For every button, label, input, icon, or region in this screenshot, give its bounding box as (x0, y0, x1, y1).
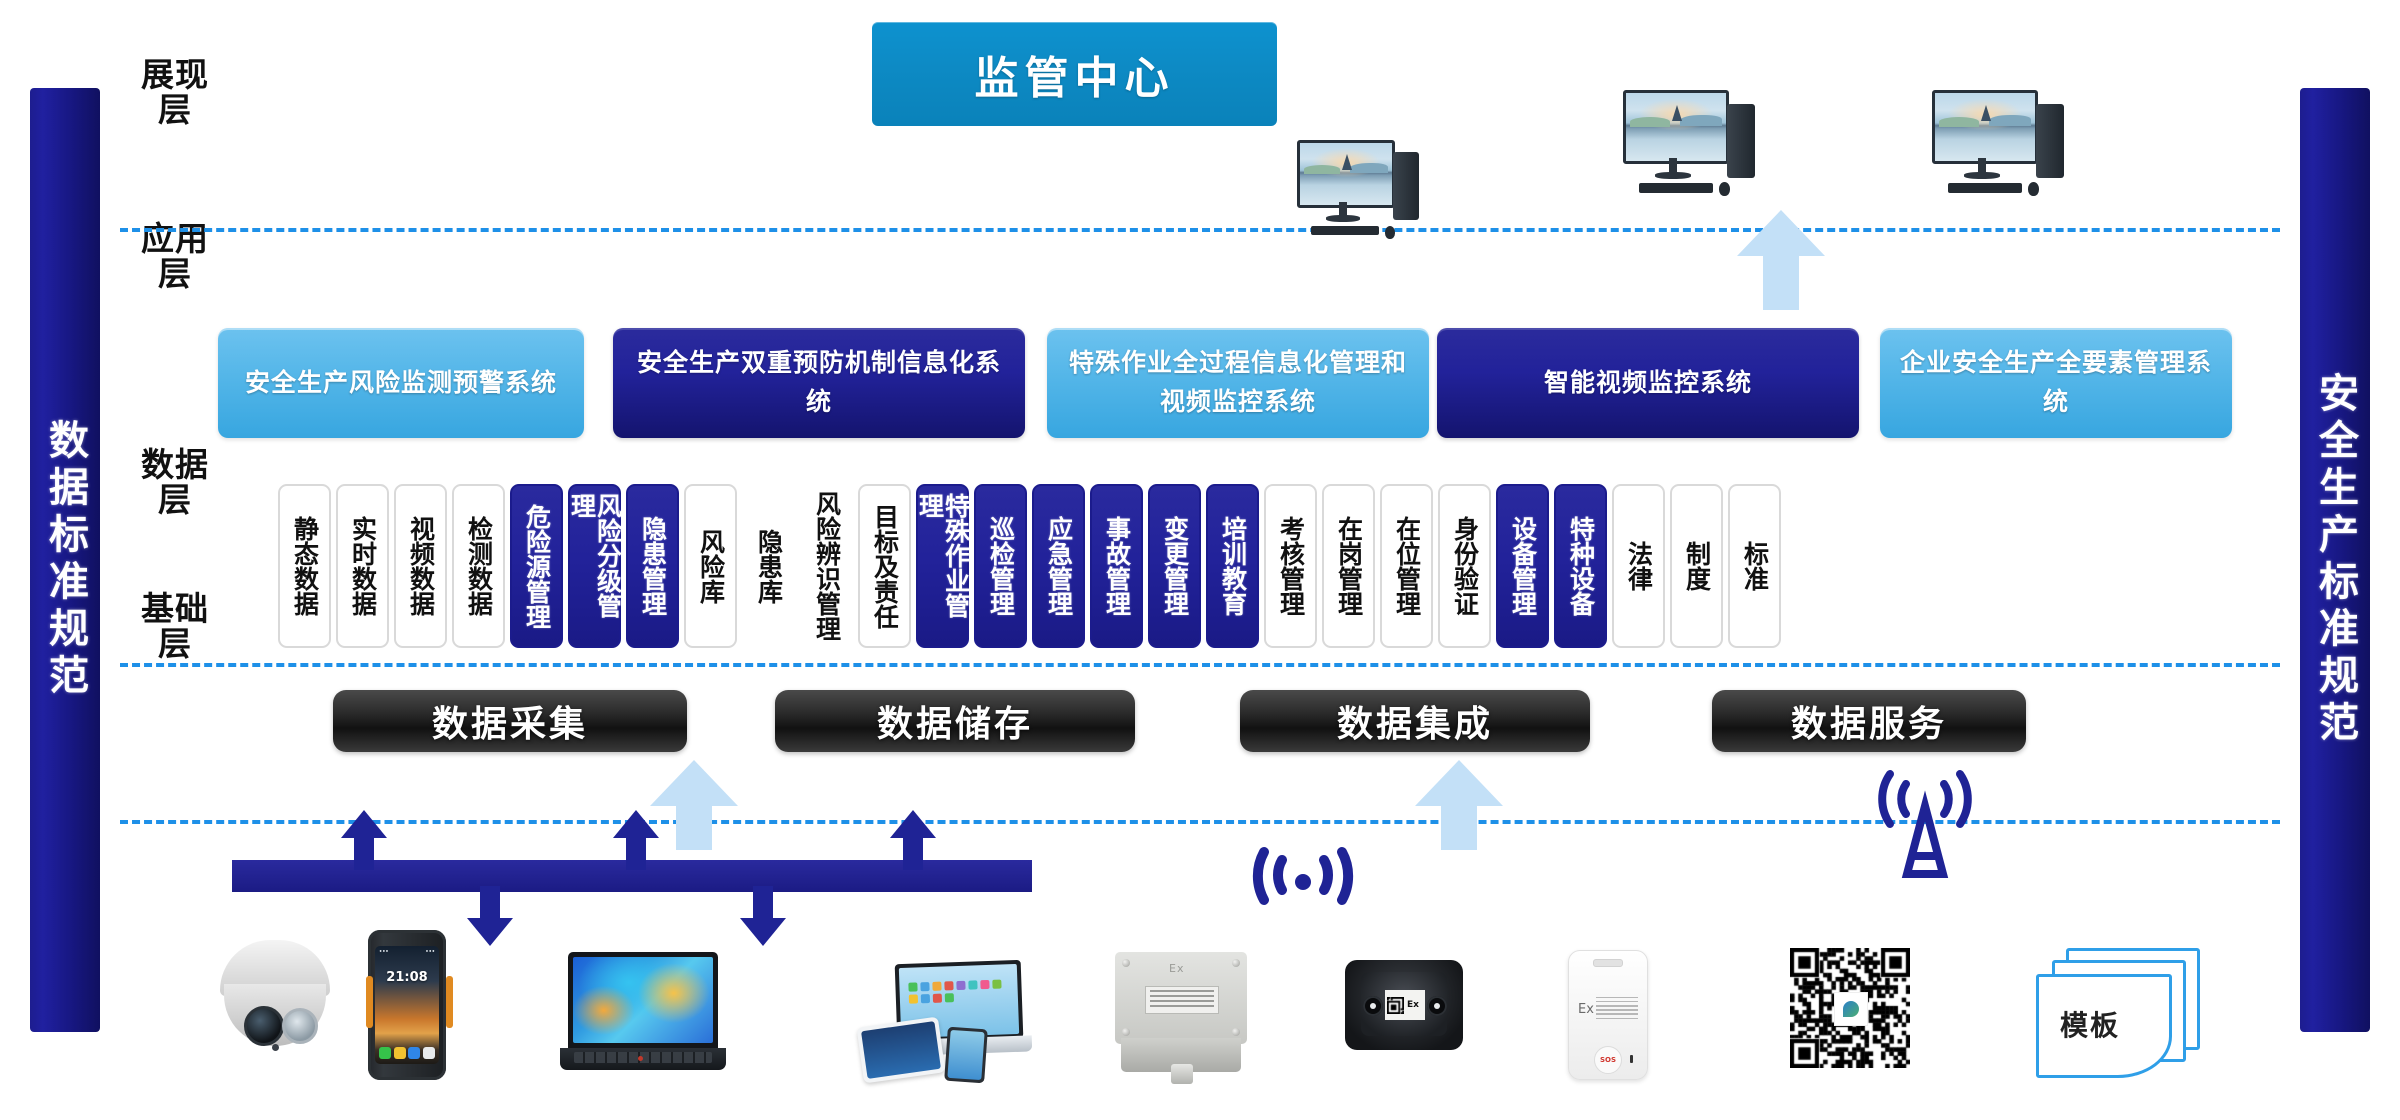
cluster-tablet (857, 1017, 946, 1084)
module-chip-11[interactable]: 目标及责任 (858, 484, 911, 648)
arrow-body (1763, 256, 1799, 310)
module-chip-20-label: 在位管理 (1394, 516, 1420, 616)
sos-button-label: SOS (1600, 1056, 1616, 1064)
module-chip-23-label: 特种设备 (1568, 516, 1594, 616)
left-rail-label: 数据标准规范 (45, 419, 85, 701)
arrow-head (1415, 760, 1503, 806)
module-chip-21[interactable]: 身份验证 (1438, 484, 1491, 648)
app-card-4[interactable]: 智能视频监控系统 (1437, 328, 1859, 438)
divider-presentation-application (120, 228, 2280, 232)
mouse-icon (1719, 182, 1730, 196)
supervision-center-label: 监管中心 (975, 42, 1175, 106)
laptop-keyboard-icon (574, 1052, 712, 1063)
phone-clock: 21:08 (375, 970, 439, 985)
sos-tag-led (1630, 1055, 1633, 1063)
monitor-icon (1932, 90, 2038, 164)
arrow-body (676, 806, 712, 850)
layer-label-application: 应用层 (135, 222, 215, 292)
sos-tag-lanyard-slot (1593, 959, 1623, 967)
junction-box-screw-tl (1122, 959, 1130, 967)
mouse-icon (2028, 182, 2039, 196)
right-rail-safety-standards: 安全生产标准规范 (2300, 88, 2370, 1032)
module-chip-17[interactable]: 培训教育 (1206, 484, 1259, 648)
data-pill-4[interactable]: 数据服务 (1712, 690, 2026, 752)
laptop-trackpoint-icon (638, 1056, 643, 1061)
wallpaper-peak (1981, 105, 1991, 121)
module-chip-7[interactable]: 隐患管理 (626, 484, 679, 648)
module-chip-1-label: 静态数据 (292, 516, 318, 616)
module-chip-10-label: 风险辨识管理 (814, 491, 840, 641)
layer-label-presentation-c1: 展现层 (135, 58, 215, 128)
laptop-lid (568, 952, 718, 1048)
layer-label-infrastructure-c1: 基础层 (135, 592, 215, 662)
app-card-1[interactable]: 安全生产风险监测预警系统 (218, 328, 584, 438)
module-chip-9-label: 隐患库 (756, 529, 782, 604)
module-chip-5[interactable]: 危险源管理 (510, 484, 563, 648)
wallpaper-hill-right (1350, 163, 1389, 173)
arrow-head (890, 810, 936, 838)
qr-code-device (1790, 948, 1912, 1070)
module-chip-26[interactable]: 标准 (1728, 484, 1781, 648)
module-chip-16[interactable]: 变更管理 (1148, 484, 1201, 648)
module-chip-row: 静态数据实时数据视频数据检测数据危险源管理风险分级管理隐患管理风险库隐患库风险辨… (278, 484, 2178, 648)
arrow-up-infra-to-data-2 (1415, 760, 1503, 850)
phone-app-phone-icon (379, 1047, 391, 1059)
app-card-1-label: 安全生产风险监测预警系统 (245, 364, 557, 403)
module-chip-22[interactable]: 设备管理 (1496, 484, 1549, 648)
beacon-sensor-right-icon (1427, 996, 1447, 1016)
junction-box-ex-mark: Ex (1169, 962, 1184, 975)
module-chip-12-label: 特殊作业管理 (917, 493, 969, 639)
right-rail-label: 安全生产标准规范 (2315, 372, 2355, 748)
app-card-2-label: 安全生产双重预防机制信息化系统 (627, 344, 1011, 422)
arrow-up-bus-2 (613, 810, 659, 866)
monitor-foot (1964, 172, 2000, 179)
data-pill-3-label: 数据集成 (1337, 695, 1493, 747)
data-pill-3[interactable]: 数据集成 (1240, 690, 1590, 752)
arrow-body (1441, 806, 1477, 850)
module-chip-15-label: 事故管理 (1104, 516, 1130, 616)
layer-label-data: 数据层 (135, 448, 215, 518)
template-documents: 模板 (2030, 948, 2206, 1078)
workstation-3 (1932, 90, 2092, 202)
module-chip-12[interactable]: 特殊作业管理 (916, 484, 969, 648)
cluster-phone (944, 1027, 988, 1084)
qr-code-center-logo (1834, 992, 1868, 1026)
wallpaper-hill-left (1630, 117, 1670, 127)
module-chip-20[interactable]: 在位管理 (1380, 484, 1433, 648)
cluster-app-grid (909, 980, 1009, 1004)
module-chip-24-label: 法律 (1626, 541, 1652, 591)
arrow-head (613, 810, 659, 838)
app-card-2[interactable]: 安全生产双重预防机制信息化系统 (613, 328, 1025, 438)
wallpaper-hill-right (1680, 115, 1722, 126)
monitor-foot (1326, 215, 1360, 222)
module-chip-4-label: 检测数据 (466, 516, 492, 616)
rugged-phone-device: •••••• 21:08 (368, 930, 452, 1086)
module-chip-4[interactable]: 检测数据 (452, 484, 505, 648)
arrow-head (650, 760, 738, 806)
junction-box-nameplate (1145, 986, 1219, 1014)
camera-indicator-dot (272, 1044, 279, 1051)
module-chip-9[interactable]: 隐患库 (742, 484, 795, 648)
keyboard-icon (1948, 183, 2022, 193)
arrow-up-bus-1 (341, 810, 387, 866)
phone-status-bar: •••••• (379, 949, 435, 955)
module-chip-18[interactable]: 考核管理 (1264, 484, 1317, 648)
wallpaper-hill-left (1304, 165, 1341, 174)
sos-button[interactable]: SOS (1594, 1046, 1622, 1074)
module-chip-8[interactable]: 风险库 (684, 484, 737, 648)
layer-label-data-c1: 数据层 (135, 448, 215, 518)
cluster-tablet-screen (861, 1021, 941, 1079)
module-chip-13-label: 巡检管理 (988, 516, 1014, 616)
module-chip-18-label: 考核管理 (1278, 516, 1304, 616)
keyboard-icon (1639, 183, 1713, 193)
pc-tower-icon (2036, 104, 2064, 178)
pc-tower-icon (1727, 104, 1755, 178)
supervision-center-box[interactable]: 监管中心 (872, 22, 1277, 126)
module-chip-26-label: 标准 (1742, 541, 1768, 591)
module-chip-19-label: 在岗管理 (1336, 516, 1362, 616)
phone-screen: •••••• 21:08 (375, 946, 439, 1064)
app-card-3-label: 特殊作业全过程信息化管理和视频监控系统 (1061, 344, 1415, 422)
arrow-down-bus-2 (740, 890, 786, 946)
module-chip-13[interactable]: 巡检管理 (974, 484, 1027, 648)
sos-tag-ex-mark: Ex (1578, 1002, 1594, 1017)
arrow-up-application-to-presentation (1737, 210, 1825, 310)
junction-box-screw-bl (1122, 1028, 1130, 1036)
beacon-qr-label: Ex (1385, 990, 1425, 1020)
module-chip-22-label: 设备管理 (1510, 516, 1536, 616)
junction-box-screw-tr (1232, 959, 1240, 967)
monitor-icon (1623, 90, 1729, 164)
module-chip-5-label: 危险源管理 (524, 504, 550, 629)
wallpaper-hill-right (1989, 115, 2031, 126)
beacon-ex-mark: Ex (1407, 1000, 1419, 1010)
arrow-body (354, 836, 374, 870)
monitor-screen (1935, 93, 2035, 161)
arrow-head (467, 918, 513, 946)
module-chip-23[interactable]: 特种设备 (1554, 484, 1607, 648)
monitor-neck (1669, 158, 1677, 173)
white-ex-sos-tag-device: Ex SOS (1568, 950, 1650, 1082)
explosion-proof-junction-box-device: Ex (1115, 952, 1255, 1092)
keyboard-icon (1311, 226, 1379, 235)
monitor-neck (1978, 158, 1986, 173)
mouse-icon (1385, 226, 1395, 239)
app-card-4-label: 智能视频监控系统 (1544, 364, 1752, 403)
module-chip-10[interactable]: 风险辨识管理 (800, 484, 853, 648)
camera-lens-icon (244, 1006, 284, 1046)
module-chip-2[interactable]: 实时数据 (336, 484, 389, 648)
module-chip-25-label: 制度 (1684, 541, 1710, 591)
module-chip-14[interactable]: 应急管理 (1032, 484, 1085, 648)
module-chip-16-label: 变更管理 (1162, 516, 1188, 616)
phone-app-camera-icon (423, 1047, 435, 1059)
beacon-sensor-left-icon (1363, 996, 1383, 1016)
module-chip-8-label: 风险库 (698, 529, 724, 604)
arrow-body (626, 836, 646, 870)
module-chip-6-label: 风险分级管理 (569, 493, 621, 639)
phone-edge-right (446, 976, 453, 1028)
module-chip-2-label: 实时数据 (350, 516, 376, 616)
left-rail-data-standards: 数据标准规范 (30, 88, 100, 1032)
module-chip-3[interactable]: 视频数据 (394, 484, 447, 648)
black-beacon-reader-device: Ex (1345, 960, 1465, 1056)
phone-dock (379, 1047, 435, 1059)
wallpaper-peak (1342, 154, 1352, 170)
layer-label-application-c1: 应用层 (135, 222, 215, 292)
phone-app-message-icon (394, 1047, 406, 1059)
app-card-3[interactable]: 特殊作业全过程信息化管理和视频监控系统 (1047, 328, 1429, 438)
antenna-tower-icon (1860, 762, 1990, 882)
module-chip-11-label: 目标及责任 (872, 504, 898, 629)
data-pill-4-label: 数据服务 (1791, 695, 1947, 747)
data-pill-2-label: 数据储存 (877, 695, 1033, 747)
arrow-down-bus-1 (467, 890, 513, 946)
camera-ir-illuminator-icon (282, 1008, 318, 1044)
phone-app-browser-icon (408, 1047, 420, 1059)
qr-code-icon (1790, 948, 1910, 1068)
app-card-5[interactable]: 企业安全生产全要素管理系统 (1880, 328, 2232, 438)
module-chip-14-label: 应急管理 (1046, 516, 1072, 616)
junction-box-cable-gland (1171, 1064, 1193, 1084)
wallpaper-peak (1672, 105, 1682, 121)
monitor-neck (1339, 202, 1347, 216)
data-pill-1-label: 数据采集 (432, 695, 588, 747)
cluster-phone-screen (947, 1030, 984, 1080)
arrow-body (480, 886, 500, 920)
arrow-up-bus-3 (890, 810, 936, 866)
arrow-body (903, 836, 923, 870)
module-chip-25[interactable]: 制度 (1670, 484, 1723, 648)
template-label: 模板 (2060, 1004, 2120, 1044)
architecture-diagram: 数据标准规范 安全生产标准规范 展现层 应用层 数据层 基础层 监管中心 (0, 0, 2400, 1120)
workstation-1 (1297, 140, 1442, 245)
layer-label-presentation: 展现层 (135, 58, 215, 128)
module-chip-21-label: 身份验证 (1452, 516, 1478, 616)
junction-box-screw-br (1232, 1028, 1240, 1036)
data-pill-1[interactable]: 数据采集 (333, 690, 687, 752)
wallpaper-hill-left (1939, 117, 1979, 127)
laptop-screen (573, 957, 713, 1043)
sos-tag-spec-text (1596, 994, 1638, 1022)
phone-edge-left (366, 976, 373, 1028)
monitor-icon (1297, 140, 1395, 208)
tablet-phone-laptop-cluster-device (860, 952, 1040, 1084)
wifi-signal-icon (1238, 820, 1368, 910)
data-pill-2[interactable]: 数据储存 (775, 690, 1135, 752)
module-chip-1[interactable]: 静态数据 (278, 484, 331, 648)
monitor-screen (1626, 93, 1726, 161)
app-card-5-label: 企业安全生产全要素管理系统 (1894, 344, 2218, 422)
arrow-head (740, 918, 786, 946)
module-chip-6[interactable]: 风险分级管理 (568, 484, 621, 648)
layer-label-infrastructure: 基础层 (135, 592, 215, 662)
module-chip-24[interactable]: 法律 (1612, 484, 1665, 648)
laptop-device (560, 952, 730, 1074)
arrow-body (753, 886, 773, 920)
module-chip-7-label: 隐患管理 (640, 516, 666, 616)
module-chip-15[interactable]: 事故管理 (1090, 484, 1143, 648)
monitor-screen (1300, 143, 1392, 205)
module-chip-19[interactable]: 在岗管理 (1322, 484, 1375, 648)
arrow-head (1737, 210, 1825, 256)
arrow-head (341, 810, 387, 838)
dome-camera-device (220, 940, 338, 1058)
arrow-up-infra-to-data-1 (650, 760, 738, 850)
divider-application-data (120, 663, 2280, 667)
module-chip-17-label: 培训教育 (1220, 516, 1246, 616)
workstation-2 (1623, 90, 1783, 202)
monitor-foot (1655, 172, 1691, 179)
module-chip-3-label: 视频数据 (408, 516, 434, 616)
pc-tower-icon (1393, 152, 1419, 220)
